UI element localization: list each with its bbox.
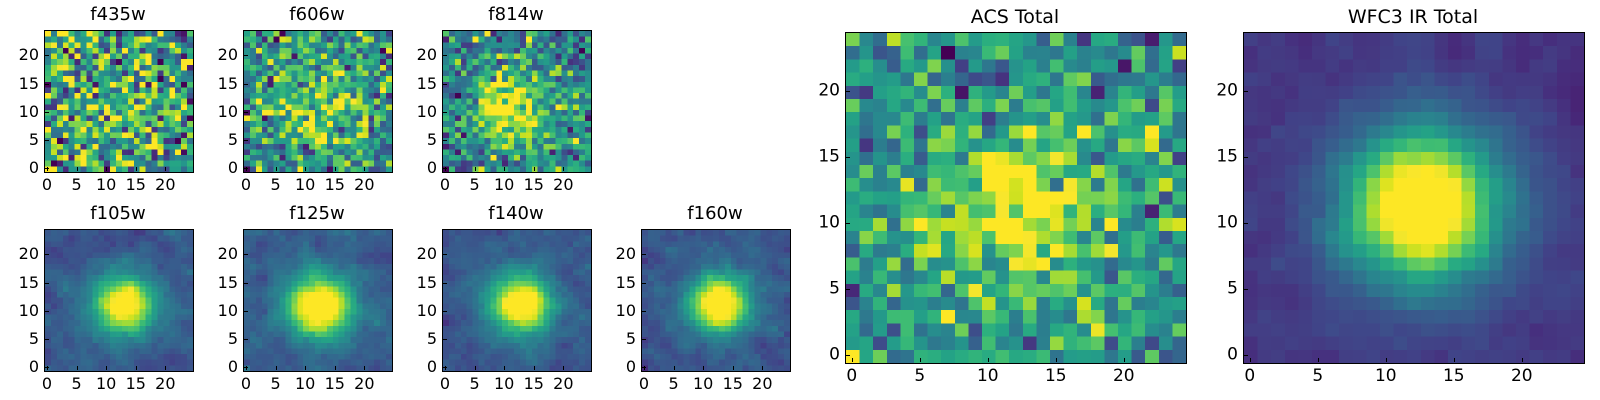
xtick-mark [534,167,535,171]
ytick-mark [845,355,850,356]
xtick-label: 10 [96,376,116,392]
xtick-label: 20 [155,177,175,193]
panel-title-f125w: f125w [203,205,431,223]
xtick-mark [276,167,277,171]
xtick-label: 10 [96,177,116,193]
xtick-mark [852,358,853,362]
xtick-mark [165,167,166,171]
xtick-mark [136,167,137,171]
ytick-mark [442,84,447,85]
ytick-label: 15 [616,275,636,291]
xtick-label: 5 [469,177,479,193]
xtick-label: 10 [494,177,514,193]
panel-acs-total: ACS Total0510152005101520 [805,4,1225,394]
ytick-label: 10 [19,303,39,319]
xtick-mark [77,167,78,171]
ytick-label: 5 [29,132,39,148]
xtick-label: 10 [693,376,713,392]
ytick-mark [243,140,248,141]
ytick-mark [641,254,646,255]
xtick-mark [305,366,306,370]
xtick-label: 10 [295,376,315,392]
panel-f160w: f160w0510152005101520 [601,201,829,400]
xtick-mark [276,366,277,370]
heatmap-acs-total [845,32,1187,364]
xtick-label: 15 [126,177,146,193]
ytick-mark [243,254,248,255]
xtick-label: 20 [1113,368,1135,385]
xtick-label: 5 [469,376,479,392]
ytick-mark [243,168,248,169]
ytick-mark [44,311,49,312]
ytick-mark [845,223,850,224]
ytick-label: 0 [228,160,238,176]
ytick-label: 20 [19,246,39,262]
xtick-mark [364,366,365,370]
xtick-label: 5 [270,177,280,193]
ytick-label: 10 [1216,215,1238,232]
xtick-label: 0 [1244,368,1255,385]
ytick-label: 15 [218,275,238,291]
heatmap-f435w [44,30,194,173]
xtick-mark [703,366,704,370]
heatmap-canvas-f814w [443,31,591,172]
xtick-mark [475,167,476,171]
xtick-mark [563,366,564,370]
xtick-mark [136,366,137,370]
xtick-label: 15 [1443,368,1465,385]
ytick-mark [641,339,646,340]
ytick-label: 10 [417,303,437,319]
panel-title-f105w: f105w [4,205,232,223]
xtick-mark [1250,358,1251,362]
ytick-mark [243,367,248,368]
ytick-mark [44,55,49,56]
ytick-label: 0 [427,359,437,375]
heatmap-canvas-f160w [642,230,790,371]
xtick-label: 20 [752,376,772,392]
ytick-label: 15 [417,76,437,92]
xtick-label: 0 [241,376,251,392]
ytick-mark [845,91,850,92]
xtick-mark [335,366,336,370]
xtick-mark [674,366,675,370]
ytick-mark [442,254,447,255]
ytick-mark [442,367,447,368]
panel-title-f814w: f814w [402,6,630,24]
panel-title-wfc3-ir-total: WFC3 IR Total [1203,8,1600,27]
xtick-label: 15 [325,177,345,193]
xtick-label: 10 [1375,368,1397,385]
xtick-mark [106,167,107,171]
ytick-label: 0 [1227,347,1238,364]
panel-f125w: f125w0510152005101520 [203,201,431,400]
ytick-label: 0 [29,359,39,375]
ytick-mark [1243,223,1248,224]
ytick-label: 15 [218,76,238,92]
ytick-mark [1243,289,1248,290]
ytick-mark [442,311,447,312]
panel-title-f140w: f140w [402,205,630,223]
heatmap-canvas-wfc3-ir-total [1244,33,1584,363]
ytick-label: 10 [218,104,238,120]
ytick-mark [44,84,49,85]
ytick-mark [243,112,248,113]
ytick-label: 0 [427,160,437,176]
ytick-mark [44,283,49,284]
ytick-mark [641,311,646,312]
xtick-mark [335,167,336,171]
ytick-label: 10 [818,215,840,232]
ytick-mark [44,112,49,113]
ytick-mark [1243,157,1248,158]
ytick-label: 0 [228,359,238,375]
xtick-mark [364,167,365,171]
ytick-label: 5 [427,132,437,148]
ytick-mark [845,157,850,158]
ytick-mark [1243,355,1248,356]
ytick-label: 5 [829,281,840,298]
xtick-label: 15 [524,177,544,193]
xtick-label: 10 [494,376,514,392]
panel-f606w: f606w0510152005101520 [203,2,431,203]
xtick-label: 5 [71,376,81,392]
ytick-label: 15 [19,275,39,291]
xtick-label: 0 [42,376,52,392]
xtick-label: 15 [723,376,743,392]
ytick-label: 10 [218,303,238,319]
xtick-mark [305,167,306,171]
panel-title-f435w: f435w [4,6,232,24]
ytick-mark [243,311,248,312]
ytick-mark [243,55,248,56]
figure-canvas: f435w0510152005101520f606w05101520051015… [0,0,1600,400]
ytick-mark [44,140,49,141]
panel-wfc3-ir-total: WFC3 IR Total0510152005101520 [1203,4,1600,394]
ytick-label: 20 [218,246,238,262]
xtick-label: 5 [914,368,925,385]
xtick-mark [1386,358,1387,362]
panel-title-f160w: f160w [601,205,829,223]
ytick-mark [44,254,49,255]
ytick-mark [243,283,248,284]
xtick-label: 0 [42,177,52,193]
panel-f435w: f435w0510152005101520 [4,2,232,203]
heatmap-canvas-f140w [443,230,591,371]
xtick-label: 15 [325,376,345,392]
heatmap-canvas-f125w [244,230,392,371]
xtick-label: 20 [354,177,374,193]
ytick-mark [442,112,447,113]
xtick-label: 0 [639,376,649,392]
xtick-label: 20 [553,376,573,392]
ytick-label: 5 [1227,281,1238,298]
panel-f140w: f140w0510152005101520 [402,201,630,400]
xtick-mark [762,366,763,370]
xtick-mark [77,366,78,370]
panel-f105w: f105w0510152005101520 [4,201,232,400]
heatmap-canvas-f435w [45,31,193,172]
ytick-label: 15 [818,149,840,166]
xtick-label: 20 [354,376,374,392]
ytick-label: 10 [417,104,437,120]
ytick-mark [44,339,49,340]
xtick-mark [563,167,564,171]
heatmap-f160w [641,229,791,372]
ytick-label: 15 [417,275,437,291]
xtick-mark [1318,358,1319,362]
xtick-mark [504,366,505,370]
xtick-label: 0 [846,368,857,385]
ytick-label: 0 [626,359,636,375]
ytick-label: 20 [616,246,636,262]
ytick-label: 5 [427,331,437,347]
xtick-label: 15 [1045,368,1067,385]
ytick-label: 10 [616,303,636,319]
panel-title-acs-total: ACS Total [805,8,1225,27]
heatmap-canvas-acs-total [846,33,1186,363]
ytick-mark [641,367,646,368]
xtick-label: 10 [295,177,315,193]
heatmap-f606w [243,30,393,173]
panel-f814w: f814w0510152005101520 [402,2,630,203]
xtick-label: 5 [71,177,81,193]
xtick-mark [475,366,476,370]
xtick-label: 15 [126,376,146,392]
panel-title-f606w: f606w [203,6,431,24]
ytick-mark [44,367,49,368]
ytick-label: 5 [228,132,238,148]
ytick-label: 15 [19,76,39,92]
ytick-label: 5 [29,331,39,347]
ytick-label: 20 [19,47,39,63]
xtick-label: 0 [241,177,251,193]
ytick-label: 5 [626,331,636,347]
xtick-label: 5 [1312,368,1323,385]
heatmap-f125w [243,229,393,372]
xtick-label: 0 [440,376,450,392]
heatmap-f140w [442,229,592,372]
ytick-label: 15 [1216,149,1238,166]
ytick-mark [44,168,49,169]
xtick-label: 20 [155,376,175,392]
xtick-mark [504,167,505,171]
xtick-label: 20 [553,177,573,193]
xtick-label: 5 [668,376,678,392]
xtick-mark [988,358,989,362]
xtick-mark [534,366,535,370]
xtick-label: 20 [1511,368,1533,385]
heatmap-f105w [44,229,194,372]
ytick-mark [442,339,447,340]
xtick-label: 0 [440,177,450,193]
ytick-label: 10 [19,104,39,120]
xtick-mark [106,366,107,370]
xtick-label: 10 [977,368,999,385]
xtick-label: 5 [270,376,280,392]
ytick-label: 20 [417,246,437,262]
xtick-mark [920,358,921,362]
heatmap-canvas-f606w [244,31,392,172]
xtick-mark [1056,358,1057,362]
xtick-mark [1454,358,1455,362]
heatmap-wfc3-ir-total [1243,32,1585,364]
ytick-label: 20 [818,83,840,100]
ytick-label: 20 [1216,83,1238,100]
xtick-mark [733,366,734,370]
heatmap-f814w [442,30,592,173]
ytick-mark [442,55,447,56]
ytick-label: 20 [417,47,437,63]
ytick-mark [442,140,447,141]
heatmap-canvas-f105w [45,230,193,371]
ytick-mark [1243,91,1248,92]
ytick-mark [845,289,850,290]
ytick-mark [243,84,248,85]
ytick-mark [243,339,248,340]
ytick-label: 0 [29,160,39,176]
ytick-mark [442,283,447,284]
ytick-label: 0 [829,347,840,364]
ytick-mark [641,283,646,284]
xtick-label: 15 [524,376,544,392]
ytick-label: 5 [228,331,238,347]
xtick-mark [1522,358,1523,362]
ytick-mark [442,168,447,169]
xtick-mark [1124,358,1125,362]
ytick-label: 20 [218,47,238,63]
xtick-mark [165,366,166,370]
